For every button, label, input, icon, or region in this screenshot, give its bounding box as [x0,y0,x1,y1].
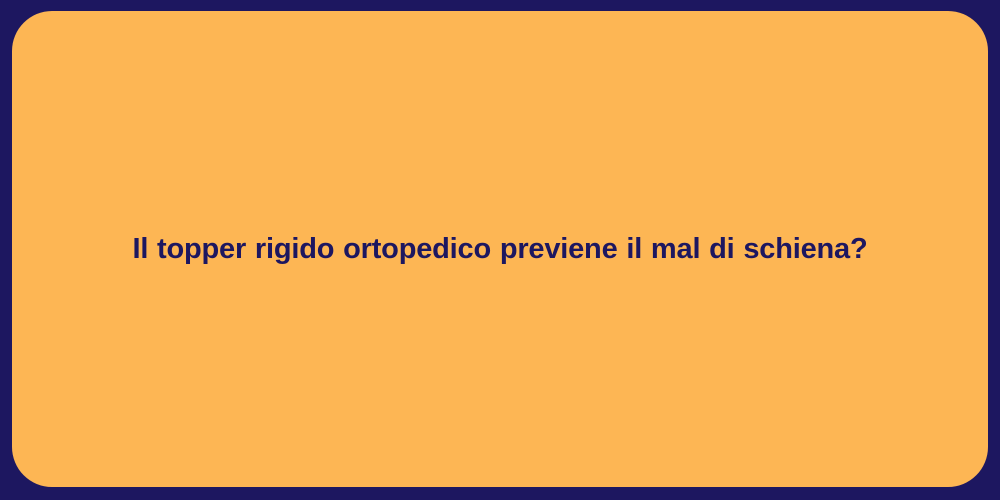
page-background: Il topper rigido ortopedico previene il … [0,0,1000,500]
card-content-area: Il topper rigido ortopedico previene il … [12,11,988,487]
page-title: Il topper rigido ortopedico previene il … [51,231,949,267]
headline-card: Il topper rigido ortopedico previene il … [12,11,988,487]
